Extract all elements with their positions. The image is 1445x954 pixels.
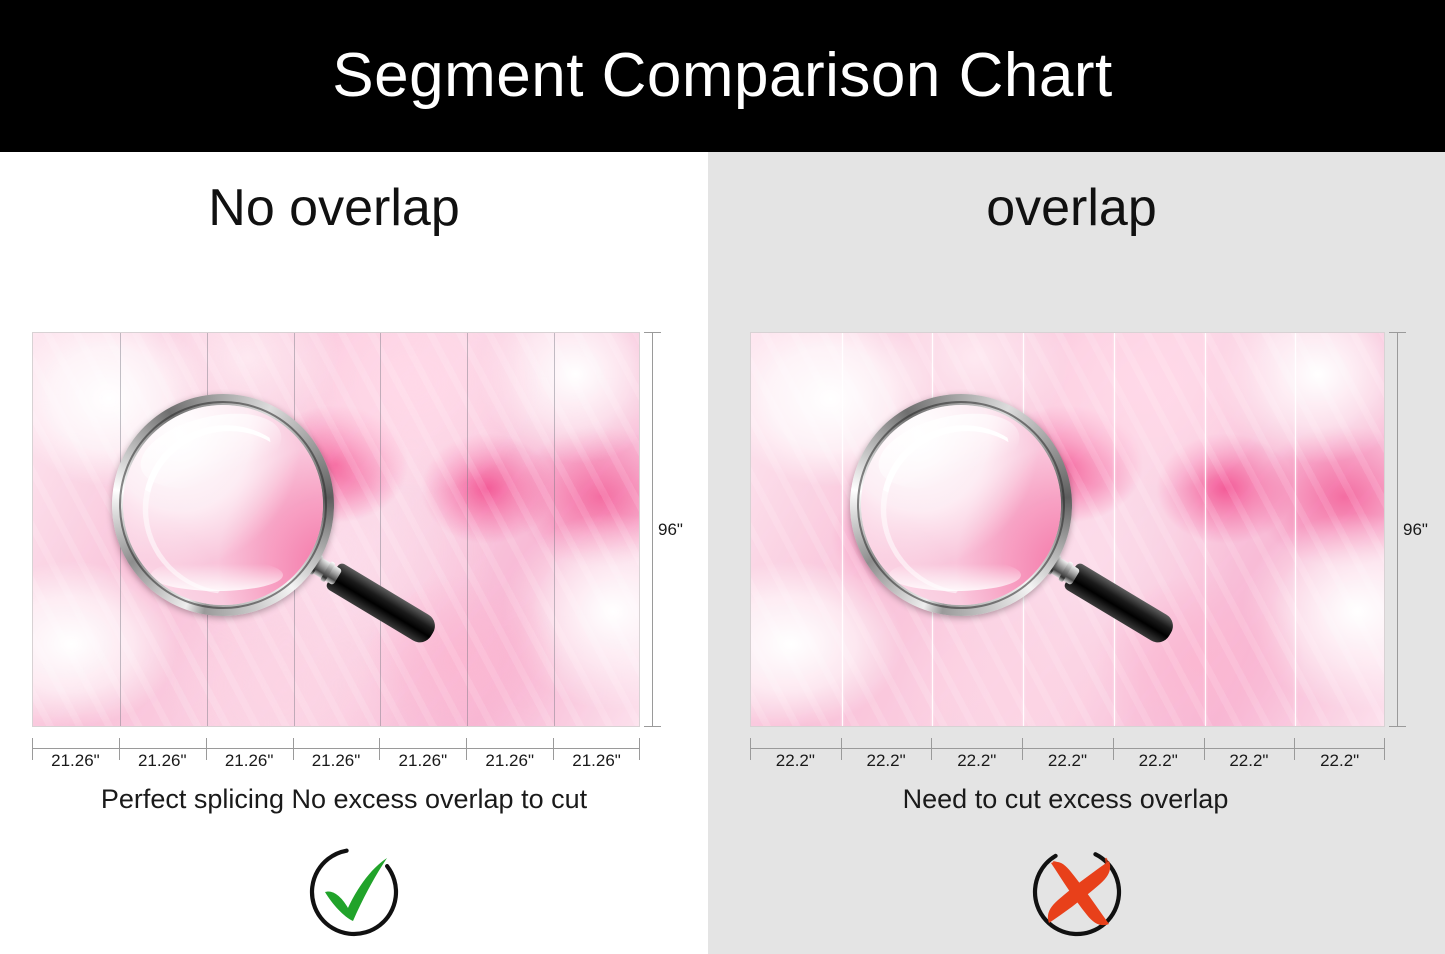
panel-left-caption: Perfect splicing No excess overlap to cu… [0,784,708,815]
dimension-cap-bottom [644,726,661,727]
height-label: 96" [658,520,683,540]
segment-dimensions-right: 22.2" 22.2" 22.2" 22.2" 22.2" 22.2" 22.2… [750,738,1385,772]
segment-width-label: 21.26" [206,751,293,771]
dimension-cap-top [644,332,661,333]
segment-seam [1023,333,1024,726]
segment-width-label: 21.26" [379,751,466,771]
segment-width-label: 22.2" [841,751,932,771]
segment-width-label: 22.2" [750,751,841,771]
cross-circle-icon [1024,838,1130,944]
title-banner: Segment Comparison Chart [0,0,1445,152]
cross-mark-icon [1047,861,1109,925]
dimension-cap-bottom [1389,726,1406,727]
verdict-circle-outline [301,838,407,944]
mural-image-left [32,332,640,727]
segment-seam [120,333,121,726]
segment-width-label: 21.26" [553,751,640,771]
segment-seam [467,333,468,726]
segment-seam [842,333,843,726]
segment-seam [932,333,933,726]
segment-seam [207,333,208,726]
panel-left-heading: No overlap [0,180,708,237]
mural-figure-left [32,332,640,727]
segment-seam [1205,333,1206,726]
comparison-panels: No overlap [0,152,1445,954]
segment-width-label: 21.26" [119,751,206,771]
panel-overlap: overlap [708,152,1445,954]
panel-no-overlap: No overlap [0,152,708,954]
check-circle-icon [301,838,407,944]
dimension-line [32,748,640,749]
segment-seam [1295,333,1296,726]
height-dimension-left: 96" [642,332,690,727]
verdict-right [708,838,1445,944]
segment-width-label: 22.2" [931,751,1022,771]
segment-seam [1114,333,1115,726]
panel-right-heading: overlap [708,180,1445,237]
segment-width-label: 22.2" [1113,751,1204,771]
verdict-left [0,838,748,944]
height-label: 96" [1403,520,1428,540]
dimension-line [652,332,653,727]
page-title: Segment Comparison Chart [332,45,1112,107]
check-mark-icon [325,858,387,921]
segment-width-label: 21.26" [32,751,119,771]
segment-width-label: 21.26" [293,751,380,771]
height-dimension-right: 96" [1387,332,1435,727]
segment-width-label: 22.2" [1204,751,1295,771]
segment-width-label: 22.2" [1294,751,1385,771]
segment-seam [380,333,381,726]
peony-floral-artwork [32,332,640,727]
mural-figure-right [750,332,1385,727]
segment-seam [554,333,555,726]
peony-floral-artwork [750,332,1385,727]
dimension-line [750,748,1385,749]
dimension-line [1397,332,1398,727]
segment-dimensions-left: 21.26" 21.26" 21.26" 21.26" 21.26" 21.26… [32,738,640,772]
segment-width-label: 21.26" [466,751,553,771]
segment-seam [294,333,295,726]
panel-right-caption: Need to cut excess overlap [708,784,1445,815]
mural-image-right [750,332,1385,727]
segment-width-label: 22.2" [1022,751,1113,771]
dimension-cap-top [1389,332,1406,333]
